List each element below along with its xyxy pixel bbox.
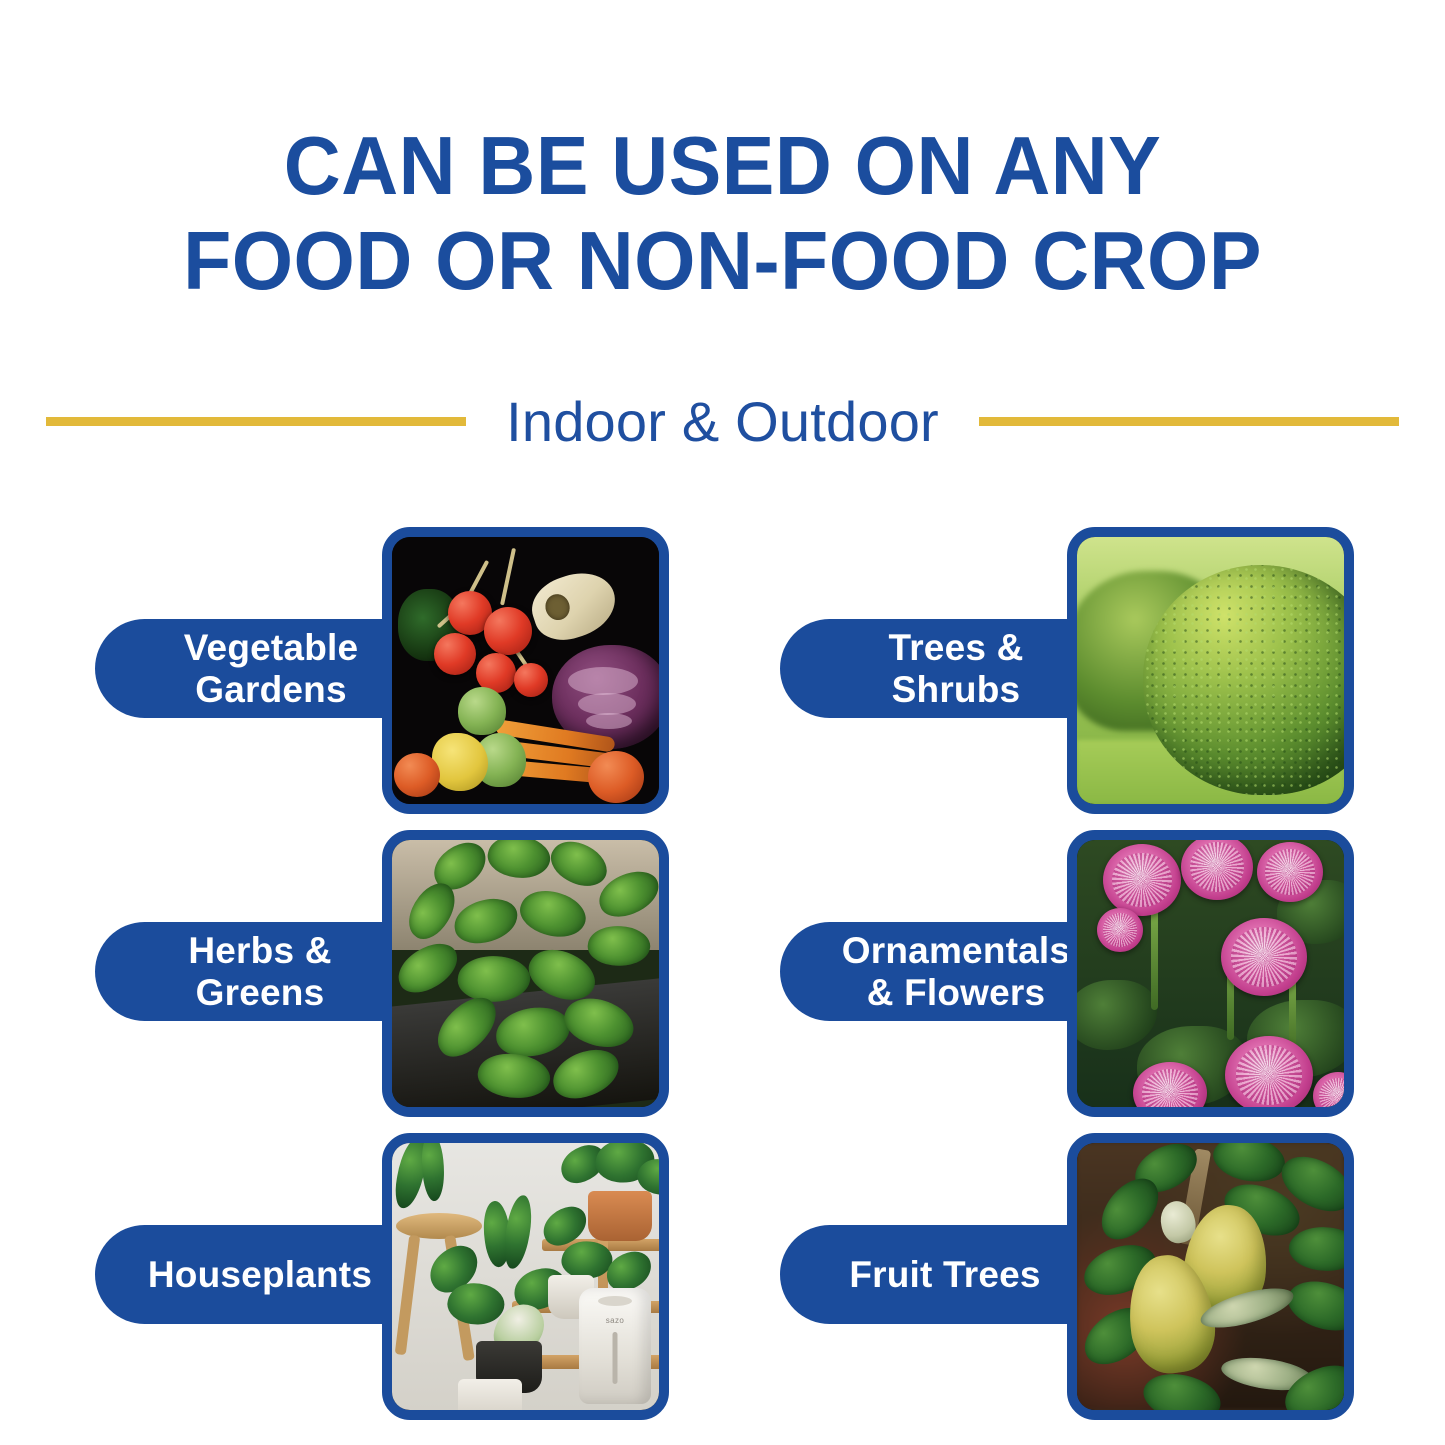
chrysanthemum-bud xyxy=(1097,908,1143,952)
headline-line-1: CAN BE USED ON ANY xyxy=(36,118,1409,213)
photo-surface xyxy=(392,840,659,1107)
humidifier: sazo xyxy=(579,1288,651,1404)
chrysanthemum-bloom xyxy=(1181,840,1253,900)
tomato-shape xyxy=(588,751,644,803)
humidifier-slot xyxy=(613,1332,618,1384)
radish-shape xyxy=(434,633,476,675)
terracotta-pot xyxy=(588,1191,652,1241)
plant-leaf xyxy=(419,1143,448,1202)
label-text: Houseplants xyxy=(148,1254,372,1295)
infographic-poster: CAN BE USED ON ANY FOOD OR NON-FOOD CROP… xyxy=(0,0,1445,1445)
white-plant-pot xyxy=(458,1379,522,1410)
feature-item-ornamentals-flowers[interactable]: Ornamentals & Flowers xyxy=(763,820,1353,1120)
photo-surface xyxy=(1077,537,1344,804)
flower-stalk xyxy=(1151,900,1158,1010)
radish-stem xyxy=(500,548,516,606)
photo-surface xyxy=(1077,840,1344,1107)
cabbage-vein xyxy=(578,693,636,715)
feature-item-trees-shrubs[interactable]: Trees & Shrubs xyxy=(763,517,1353,817)
chrysanthemum-bloom xyxy=(1103,844,1181,916)
cabbage-vein xyxy=(586,713,632,729)
subtitle: Indoor & Outdoor xyxy=(506,389,939,454)
feature-item-vegetable-gardens[interactable]: Vegetable Gardens xyxy=(78,517,668,817)
feature-grid: Vegetable Gardens xyxy=(0,505,1445,1435)
houseplants-photo: sazo xyxy=(382,1133,669,1420)
chrysanthemum-bloom xyxy=(1225,1036,1313,1107)
radish-shape xyxy=(514,663,548,697)
tomato-shape xyxy=(394,753,440,797)
ornamentals-flowers-photo xyxy=(1067,830,1354,1117)
chrysanthemum-bloom xyxy=(1257,842,1323,902)
trees-shrubs-photo xyxy=(1067,527,1354,814)
subtitle-row: Indoor & Outdoor xyxy=(0,385,1445,457)
foliage-shape xyxy=(1077,980,1157,1050)
stool-leg xyxy=(395,1235,421,1355)
label-pill-houseplants: Houseplants xyxy=(95,1225,413,1324)
label-pill-herbs-greens: Herbs & Greens xyxy=(95,922,413,1021)
gold-rule-left xyxy=(46,417,466,426)
gold-rule-right xyxy=(979,417,1399,426)
page-title: CAN BE USED ON ANY FOOD OR NON-FOOD CROP xyxy=(36,118,1409,309)
photo-surface xyxy=(392,537,659,804)
chrysanthemum-bloom xyxy=(1313,1072,1344,1107)
brussels-sprout-shape xyxy=(458,687,506,735)
humidifier-brand-label: sazo xyxy=(579,1316,651,1325)
herbs-greens-photo xyxy=(382,830,669,1117)
fruit-trees-photo xyxy=(1067,1133,1354,1420)
vegetable-gardens-photo xyxy=(382,527,669,814)
photo-surface xyxy=(1077,1143,1344,1410)
chrysanthemum-bloom xyxy=(1221,918,1307,996)
feature-item-fruit-trees[interactable]: Fruit Trees xyxy=(763,1123,1353,1423)
cabbage-vein xyxy=(568,667,638,695)
turnip-shape xyxy=(524,564,623,649)
label-text: Vegetable Gardens xyxy=(184,627,359,710)
yellow-squash-shape xyxy=(432,733,488,791)
feature-item-herbs-greens[interactable]: Herbs & Greens xyxy=(78,820,668,1120)
headline-line-2: FOOD OR NON-FOOD CROP xyxy=(36,213,1409,308)
wooden-stool-top xyxy=(396,1213,482,1239)
photo-surface: sazo xyxy=(392,1143,659,1410)
label-text: Herbs & Greens xyxy=(188,930,331,1013)
radish-shape xyxy=(484,607,532,655)
label-text: Ornamentals & Flowers xyxy=(842,930,1070,1013)
label-pill-fruit-trees: Fruit Trees xyxy=(780,1225,1098,1324)
label-text: Trees & Shrubs xyxy=(832,627,1080,710)
feature-item-houseplants[interactable]: Houseplants xyxy=(78,1123,668,1423)
plant-leaf xyxy=(502,1194,534,1270)
label-text: Fruit Trees xyxy=(849,1254,1040,1295)
